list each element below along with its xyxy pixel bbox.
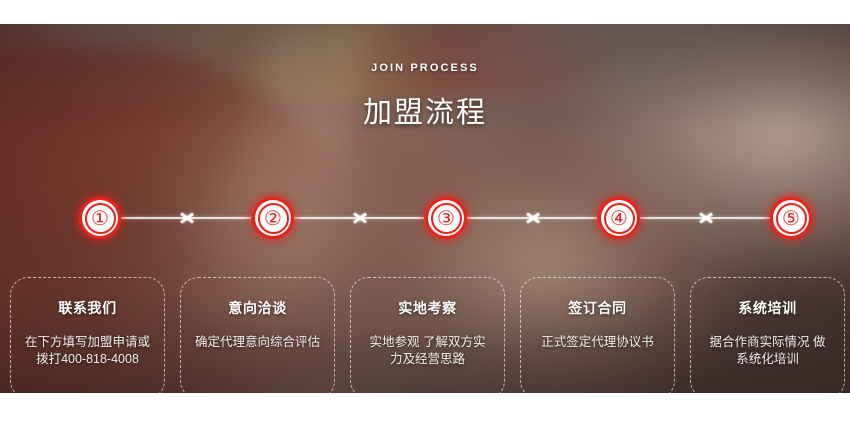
card-title: 实地考察	[351, 298, 504, 318]
process-card-5[interactable]: 系统培训 据合作商实际情况 做系统化培训	[690, 277, 845, 393]
card-body: 据合作商实际情况 做系统化培训	[691, 334, 844, 368]
step-circle-4[interactable]: ④	[598, 197, 640, 239]
process-card-4[interactable]: 签订合同 正式签定代理协议书	[520, 277, 675, 393]
process-card-1[interactable]: 联系我们 在下方填写加盟申请或拨打400-818-4008	[10, 277, 165, 393]
process-card-2[interactable]: 意向洽谈 确定代理意向综合评估	[180, 277, 335, 393]
banner-heading: JOIN PROCESS 加盟流程	[0, 24, 850, 131]
card-body: 正式签定代理协议书	[521, 334, 674, 351]
card-title: 意向洽谈	[181, 298, 334, 318]
card-title: 联系我们	[11, 298, 164, 318]
chevron-right-icon	[697, 207, 719, 229]
card-body: 在下方填写加盟申请或拨打400-818-4008	[11, 334, 164, 368]
process-card-list: 联系我们 在下方填写加盟申请或拨打400-818-4008 意向洽谈 确定代理意…	[10, 277, 840, 393]
step-circle-3[interactable]: ③	[425, 197, 467, 239]
chevron-right-icon	[178, 207, 200, 229]
page-title: 加盟流程	[0, 89, 850, 131]
step-number-4: ④	[610, 208, 628, 228]
page-root: JOIN PROCESS 加盟流程 ① ②	[0, 0, 850, 425]
card-title: 系统培训	[691, 298, 844, 318]
card-title: 签订合同	[521, 298, 674, 318]
process-card-3[interactable]: 实地考察 实地参观 了解双方实力及经营思路	[350, 277, 505, 393]
section-eyebrow: JOIN PROCESS	[0, 62, 850, 74]
step-number-3: ③	[437, 208, 455, 228]
card-body: 确定代理意向综合评估	[181, 334, 334, 351]
card-body: 实地参观 了解双方实力及经营思路	[351, 334, 504, 368]
chevron-right-icon	[524, 207, 546, 229]
join-process-banner: JOIN PROCESS 加盟流程 ① ②	[0, 24, 850, 393]
step-number-1: ①	[91, 208, 109, 228]
step-number-5: ⑤	[782, 208, 800, 228]
process-timeline: ① ② ③ ④ ⑤	[0, 174, 850, 262]
chevron-right-icon	[351, 207, 373, 229]
step-number-2: ②	[264, 208, 282, 228]
step-circle-1[interactable]: ①	[79, 197, 121, 239]
step-circle-5[interactable]: ⑤	[770, 197, 812, 239]
step-circle-2[interactable]: ②	[252, 197, 294, 239]
